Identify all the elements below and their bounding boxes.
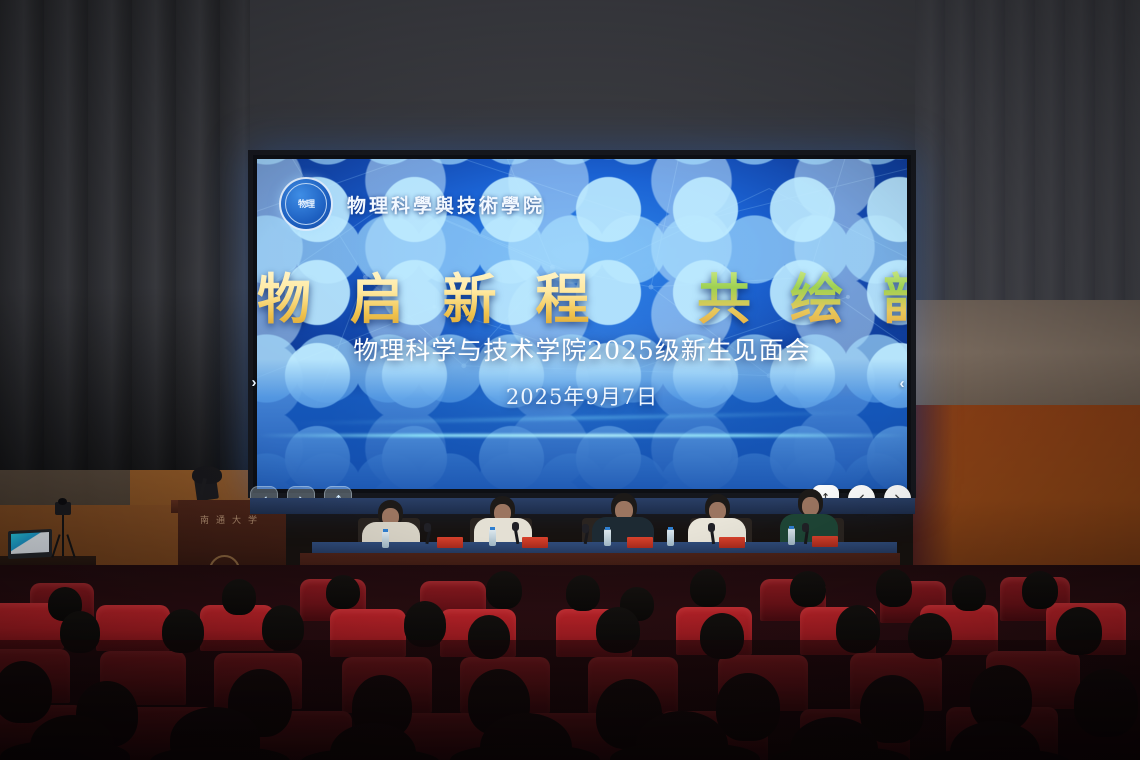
- curtain-center: [250, 0, 915, 150]
- bottle-cap: [605, 527, 610, 530]
- grid-glow-secondary: [290, 411, 875, 424]
- audience-head: [486, 571, 522, 609]
- led-screen: 物理 物理科學與技術學院 物 启 新 程 共 绘 韶 华 物理科学与技术学院20…: [257, 159, 907, 489]
- audience-head: [566, 575, 600, 611]
- slide-date: 2025年9月7日: [257, 381, 907, 411]
- microphone-head: [582, 524, 589, 533]
- photo-scene: 物理 物理科學與技術學院 物 启 新 程 共 绘 韶 华 物理科学与技术学院20…: [0, 0, 1140, 760]
- headline-part-2: 共 绘 韶 华: [697, 267, 907, 331]
- laptop: [8, 529, 52, 559]
- name-card: [719, 537, 745, 548]
- microphone-head: [708, 523, 715, 532]
- slide-headline: 物 启 新 程 共 绘 韶 华: [257, 255, 907, 334]
- podium-equipment-head: [192, 466, 222, 484]
- water-bottle: [382, 531, 389, 548]
- wall-band-tan-right: [913, 300, 1140, 405]
- name-card: [812, 536, 838, 547]
- curtain-right: [915, 0, 1140, 300]
- name-card: [437, 537, 463, 548]
- department-name: 物理科學與技術學院: [347, 191, 545, 218]
- bottle-cap: [789, 526, 794, 529]
- edge-marker-right-icon[interactable]: ‹: [894, 372, 910, 394]
- name-card: [522, 537, 548, 548]
- bottle-cap: [490, 527, 495, 530]
- foreground-shadow: [0, 640, 1140, 760]
- microphone-head: [512, 522, 519, 531]
- podium-institution-text: 南通大学: [178, 513, 286, 526]
- screen-header: 物理 物理科學與技術學院: [279, 177, 545, 231]
- water-bottle: [788, 528, 795, 545]
- bottle-cap: [668, 527, 673, 530]
- audience-head: [1022, 571, 1058, 609]
- audience-head: [952, 575, 986, 611]
- laptop-screen: [11, 532, 49, 554]
- audience-head: [326, 575, 360, 609]
- slide-subtitle: 物理科学与技术学院2025级新生见面会: [257, 331, 907, 367]
- name-card: [627, 537, 653, 548]
- curtain-left: [0, 0, 250, 520]
- university-emblem-icon: 物理: [279, 177, 333, 231]
- edge-marker-left-icon[interactable]: ›: [246, 371, 262, 393]
- audience-head: [790, 571, 826, 607]
- bottle-cap: [383, 529, 388, 532]
- led-screen-bezel: 物理 物理科學與技術學院 物 启 新 程 共 绘 韶 华 物理科学与技术学院20…: [248, 150, 916, 498]
- microphone-head: [802, 523, 809, 532]
- audience-head: [690, 569, 726, 607]
- water-bottle: [604, 529, 611, 546]
- water-bottle: [667, 529, 674, 546]
- perspective-grid-graphic: [257, 359, 907, 489]
- water-bottle: [489, 529, 496, 546]
- emblem-label: 物理: [281, 179, 331, 229]
- microphone-head: [424, 523, 431, 532]
- camera-lens: [58, 498, 67, 505]
- audience-head: [876, 569, 912, 607]
- audience-head: [222, 579, 256, 615]
- tripod-pole: [62, 512, 64, 556]
- headline-part-1: 物 启 新 程: [257, 267, 599, 331]
- grid-glow-primary: [257, 434, 907, 437]
